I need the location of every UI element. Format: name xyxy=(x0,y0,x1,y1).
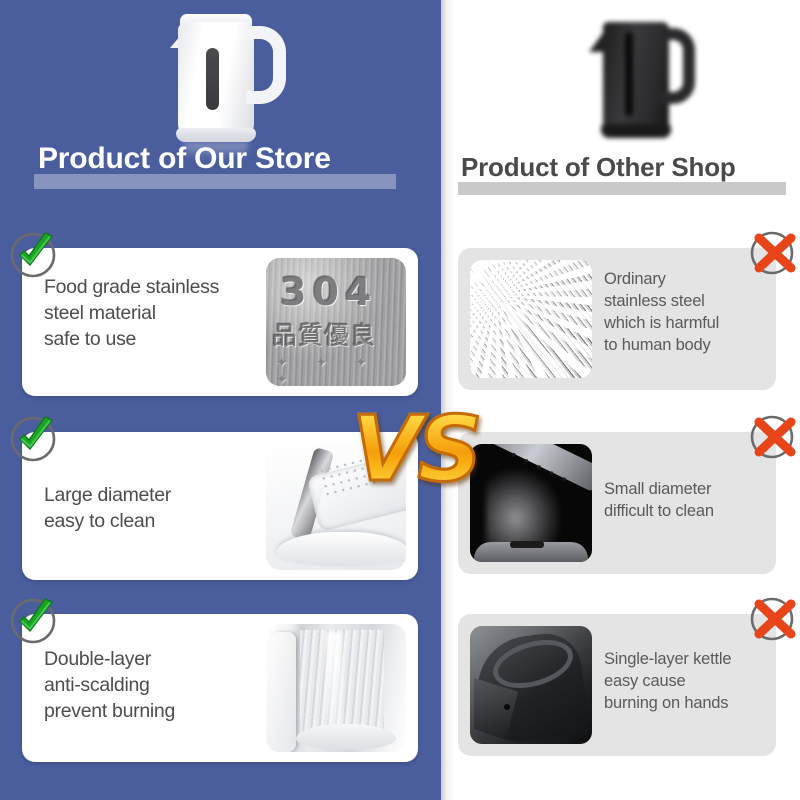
stamp-304-label: 304 xyxy=(280,270,392,314)
green-check-icon xyxy=(6,410,62,466)
dark-kettle-window-shape xyxy=(625,32,633,116)
left-title-text: Product of Our Store xyxy=(38,142,404,176)
left-feature-text-1: Food grade stainless steel material safe… xyxy=(44,274,262,352)
steam-base-detail-shape xyxy=(510,541,544,548)
left-title-underline xyxy=(34,174,396,189)
narrow-opening-steam-image xyxy=(470,444,592,562)
white-kettle-icon xyxy=(150,4,290,146)
left-feature-card-2: Large diameter easy to clean xyxy=(22,432,418,580)
right-drawback-card-2: Small diameter difficult to clean xyxy=(458,432,776,574)
black-kettle-icon xyxy=(577,8,697,146)
panel-divider xyxy=(441,0,455,800)
kettle-lid-photo-graphic xyxy=(266,442,406,570)
noise-texture-graphic xyxy=(470,260,592,378)
dark-kettle-base-shape xyxy=(601,124,671,138)
green-check-icon xyxy=(6,592,62,648)
stamp-stars-label: ✦ ✦ ✦ ✦ xyxy=(276,354,400,386)
steam-cloud-shape xyxy=(486,470,560,550)
double-layer-interior-image xyxy=(266,624,406,752)
interior-handle-shape xyxy=(270,632,296,752)
left-feature-card-1: Food grade stainless steel material safe… xyxy=(22,248,418,396)
interior-steel-graphic xyxy=(266,624,406,752)
right-drawback-text-1: Ordinary stainless steel which is harmfu… xyxy=(604,268,770,356)
steam-photo-graphic xyxy=(470,444,592,562)
right-drawback-card-3: Single-layer kettle easy cause burning o… xyxy=(458,614,776,756)
ordinary-steel-noise-image xyxy=(470,260,592,378)
open-wide-lid-image xyxy=(266,442,406,570)
kettle-base-shape xyxy=(176,128,256,142)
red-cross-icon xyxy=(746,590,800,646)
single-layer-spout-image xyxy=(470,626,592,744)
right-title-underline xyxy=(458,182,786,195)
dark-kettle-body-shape xyxy=(603,22,669,132)
right-drawback-card-1: Ordinary stainless steel which is harmfu… xyxy=(458,248,776,390)
right-drawback-text-3: Single-layer kettle easy cause burning o… xyxy=(604,648,770,714)
dark-kettle-handle-shape xyxy=(661,28,695,104)
spout-hole-shape xyxy=(504,704,510,710)
lid-rim-shape xyxy=(276,532,406,566)
right-title-text: Product of Other Shop xyxy=(461,152,791,183)
black-spout-graphic xyxy=(470,626,592,744)
kettle-water-window-shape xyxy=(206,48,219,110)
stainless-304-stamp-image: 304 品質優良 ✦ ✦ ✦ ✦ xyxy=(266,258,406,386)
stamp-chinese-label: 品質優良 xyxy=(272,316,400,352)
left-feature-text-2: Large diameter easy to clean xyxy=(44,482,262,534)
comparison-infographic: Product of Our Store Product of Other Sh… xyxy=(0,0,800,800)
kettle-handle-shape xyxy=(246,26,286,104)
red-cross-icon xyxy=(746,224,800,280)
left-feature-card-3: Double-layer anti-scalding prevent burni… xyxy=(22,614,418,762)
left-feature-text-3: Double-layer anti-scalding prevent burni… xyxy=(44,646,262,724)
right-panel-title: Product of Other Shop xyxy=(461,152,791,196)
interior-highlight-shape xyxy=(326,632,342,738)
right-drawback-text-2: Small diameter difficult to clean xyxy=(604,478,770,522)
left-panel-title: Product of Our Store xyxy=(38,142,404,188)
interior-bottom-shape xyxy=(296,724,396,750)
green-check-icon xyxy=(6,226,62,282)
red-cross-icon xyxy=(746,408,800,464)
steel-stamp-graphic: 304 品質優良 ✦ ✦ ✦ ✦ xyxy=(266,258,406,386)
